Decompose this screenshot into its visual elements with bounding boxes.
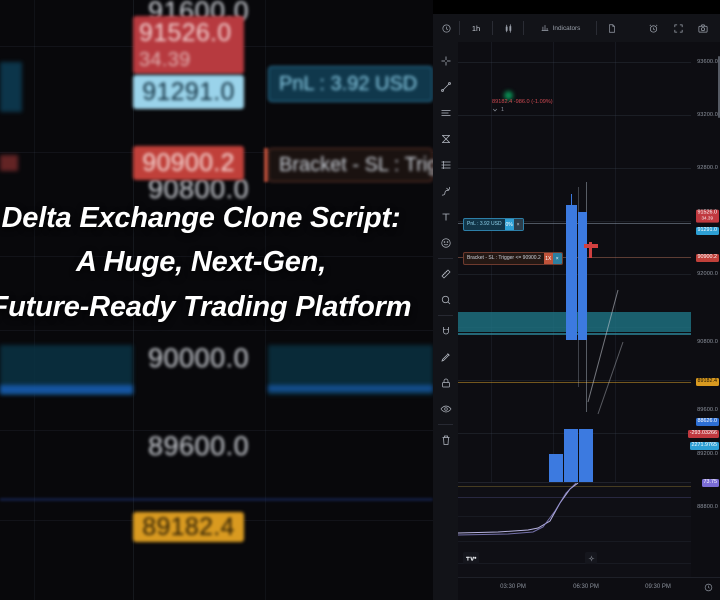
templates-icon[interactable] — [597, 14, 627, 42]
tp-price-badge: 88626.0 — [696, 418, 720, 426]
chart-type-icon[interactable] — [493, 14, 523, 42]
rsi-value-badge: 73.75 — [702, 479, 720, 487]
rsi-line — [458, 483, 691, 578]
price-scale[interactable]: 93600.0 93200.0 92800.0 92400.0 92000.0 … — [691, 42, 720, 577]
qty-price-badge: 2271.9765 — [690, 442, 719, 450]
timeframe-button[interactable]: 1h — [460, 14, 492, 42]
promo-title-line-1: Delta Exchange Clone Script: — [0, 196, 436, 240]
promo-title-line-3: Future-Ready Trading Platform — [0, 285, 436, 329]
drawing-tools-rail — [433, 42, 458, 600]
pnl-order-label[interactable]: PnL : 3.92 USD 0% × — [463, 218, 524, 231]
bracket-order-label[interactable]: Bracket - SL : Trigger <= 90900.2 1X × — [463, 252, 563, 265]
indicators-label: Indicators — [553, 25, 581, 32]
entry-price-sub: 34.39 — [698, 216, 718, 221]
price-scale-label: 88800.0 — [697, 504, 718, 510]
tradingview-logo[interactable] — [463, 552, 479, 564]
symbol-header[interactable]: 89182.4 -986.0 (-1.09%) 1 — [492, 90, 553, 113]
symbol-quote: 89182.4 -986.0 (-1.09%) — [492, 99, 553, 105]
loss-price-badge: -293.03266 — [688, 430, 719, 438]
bg-last-price-badge: 89182.4 — [133, 512, 244, 542]
bg-stop-loss-badge: 90900.2 — [133, 146, 244, 180]
brush-tool-icon[interactable] — [433, 178, 458, 204]
indicators-button[interactable]: Indicators — [524, 14, 596, 42]
timeframe-label: 1h — [472, 24, 480, 33]
pnl-order-close-button[interactable]: × — [514, 219, 523, 230]
time-label: 03:30 PM — [500, 584, 526, 590]
bg-entry-price-badge: 91526.0 34.39 — [133, 16, 244, 74]
price-scale-label: 89200.0 — [697, 451, 718, 457]
emoji-tool-icon[interactable] — [433, 230, 458, 256]
stop-loss-badge: 90900.2 — [696, 254, 720, 262]
pnl-price-badge: 91291.0 — [696, 227, 720, 235]
rail-divider — [438, 424, 453, 425]
chart-toolbar: 1h Indicators — [433, 14, 720, 42]
bracket-order-close-button[interactable]: × — [553, 253, 562, 264]
chevron-down-icon — [492, 107, 498, 113]
bg-entry-price-value: 91526.0 — [139, 19, 231, 48]
hide-drawings-tool-icon[interactable] — [433, 396, 458, 422]
horizontal-lines-tool-icon[interactable] — [433, 100, 458, 126]
bracket-order-text: Bracket - SL : Trigger <= 90900.2 — [464, 253, 544, 264]
crosshair-tool-icon[interactable] — [433, 48, 458, 74]
drawing-mode-tool-icon[interactable] — [433, 344, 458, 370]
price-scale-label: 92800.0 — [697, 165, 718, 171]
rsi-pane[interactable]: 80.00 60.00 50.00 40.00 30.00 — [458, 482, 691, 578]
promo-title-line-2: A Huge, Next-Gen, — [0, 240, 436, 284]
pnl-order-qty-button[interactable]: 0% — [505, 219, 514, 230]
bg-bracket-order-label: Bracket - SL : Trigger — [268, 148, 433, 182]
symbol-interval-row[interactable]: 1 — [492, 107, 553, 113]
trend-line-tool-icon[interactable] — [433, 74, 458, 100]
time-label: 06:30 PM — [573, 584, 599, 590]
bg-price-label-4: 89600.0 — [148, 431, 249, 462]
status-bar — [433, 0, 720, 14]
screenshot-root: 91600.0 90800.0 90000.0 89600.0 91526.0 … — [0, 0, 720, 600]
pane-settings-icon[interactable] — [585, 552, 597, 564]
bg-price-label-3: 90000.0 — [148, 343, 249, 374]
trading-app-panel: 1h Indicators — [433, 0, 720, 600]
rail-divider — [438, 315, 453, 316]
pnl-order-text: PnL : 3.92 USD — [464, 219, 505, 230]
bg-entry-price-sub: 34.39 — [139, 49, 191, 72]
bg-pnl-price-badge: 91291.0 — [133, 75, 244, 109]
symbol-interval: 1 — [501, 107, 504, 113]
rail-divider — [438, 258, 453, 259]
zoom-tool-icon[interactable] — [433, 287, 458, 313]
lock-tool-icon[interactable] — [433, 370, 458, 396]
time-settings-icon[interactable] — [702, 581, 714, 593]
last-price-badge: 89182.4 — [696, 378, 720, 386]
remove-drawings-tool-icon[interactable] — [433, 427, 458, 453]
price-scale-label: 89600.0 — [697, 407, 718, 413]
undo-icon[interactable] — [433, 14, 459, 42]
text-tool-icon[interactable] — [433, 204, 458, 230]
price-scale-label: 93600.0 — [697, 59, 718, 65]
fib-retracement-tool-icon[interactable] — [433, 126, 458, 152]
price-scale-label: 92000.0 — [697, 271, 718, 277]
price-scale-label: 93200.0 — [697, 112, 718, 118]
bracket-order-qty-button[interactable]: 1X — [544, 253, 553, 264]
time-label: 09:30 PM — [645, 584, 671, 590]
measure-tool-icon[interactable] — [433, 261, 458, 287]
bg-pnl-order-label: PnL : 3.92 USD — [268, 66, 433, 102]
time-scale[interactable]: 03:30 PM 06:30 PM 09:30 PM — [458, 577, 720, 600]
fullscreen-icon[interactable] — [666, 14, 690, 42]
promo-title: Delta Exchange Clone Script: A Huge, Nex… — [0, 196, 436, 329]
price-scale-label: 90800.0 — [697, 339, 718, 345]
tradingview-glyph — [466, 555, 477, 562]
pitchfork-tool-icon[interactable] — [433, 152, 458, 178]
alerts-icon[interactable] — [640, 14, 666, 42]
magnet-tool-icon[interactable] — [433, 318, 458, 344]
snapshot-icon[interactable] — [690, 14, 720, 42]
entry-price-badge: 91526.0 34.39 — [696, 210, 720, 223]
